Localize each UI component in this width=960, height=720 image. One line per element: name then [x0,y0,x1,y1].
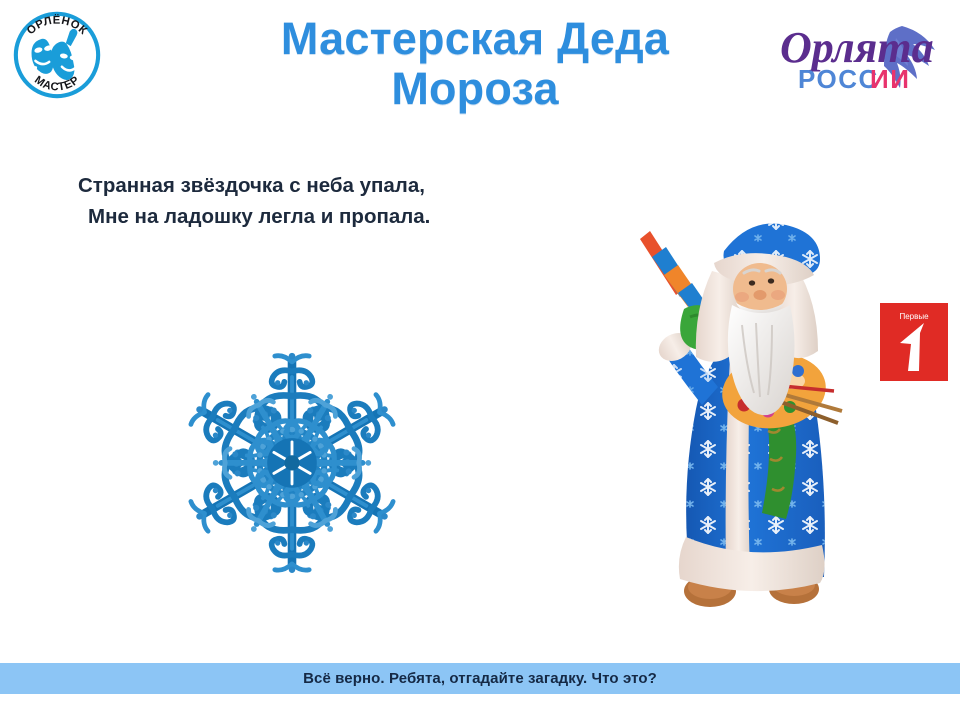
orlyonok-top-label: ОРЛЁНОК [25,14,90,38]
riddle-line-2: Мне на ладошку легла и пропала. [78,201,548,232]
page-title: Мастерская Деда Мороза [210,14,740,115]
pervye-arrow-icon [900,323,924,371]
riddle-line-1: Странная звёздочка с неба упала, [78,170,548,201]
pervye-badge: Первые [880,303,948,381]
ornate-snowflake-icon [168,330,416,592]
riddle-text: Странная звёздочка с неба упала, Мне на … [78,170,548,232]
rossii-label-part1: РОСС [798,64,879,94]
caption-text: Всё верно. Ребята, отгадайте загадку. Чт… [303,670,657,687]
rossii-label-part2: ИИ [870,64,910,94]
svg-text:ОРЛЁНОК: ОРЛЁНОК [25,14,90,38]
orlyata-rossii-logo: Орлята РОСС ИИ [776,4,952,108]
pervye-label: Первые [899,312,929,321]
slide-canvas: ОРЛЁНОК МАСТЕР Мастерская Деда Мороза Ор… [0,0,960,720]
orlyonok-master-logo: ОРЛЁНОК МАСТЕР [8,6,106,104]
ded-moroz-illustration [628,205,876,615]
caption-bar: Всё верно. Ребята, отгадайте загадку. Чт… [0,663,960,694]
